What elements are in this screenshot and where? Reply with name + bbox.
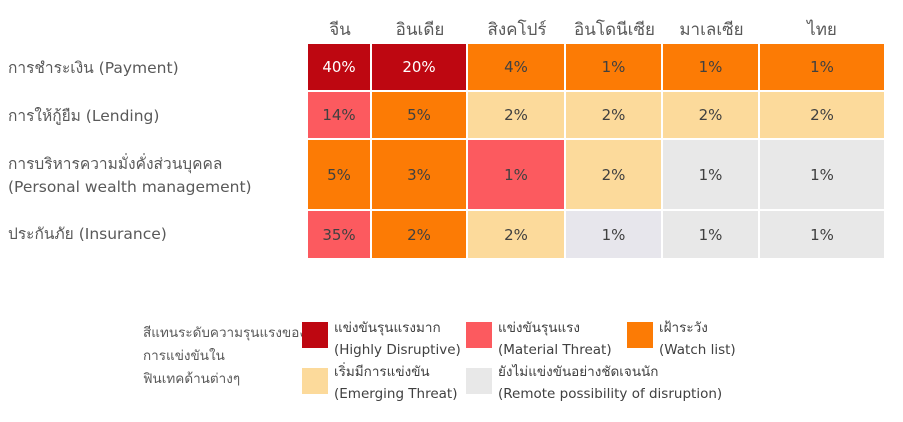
column-header-5: มาเลเซีย: [663, 0, 760, 44]
legend-caption-line: ฟินเทคด้านต่างๆ: [143, 368, 308, 391]
heatmap-cell: 1%: [760, 140, 884, 211]
heatmap-cell: 2%: [468, 211, 566, 258]
heatmap-cell: 14%: [308, 92, 372, 140]
heatmap-cell: 1%: [566, 211, 663, 258]
fintech-disruption-heatmap: จีนอินเดียสิงคโปร์อินโดนีเซียมาเลเซียไทย…: [0, 0, 903, 262]
legend-swatch-1: [302, 322, 328, 348]
heatmap-cell: 2%: [566, 92, 663, 140]
legend-swatch-4: [466, 368, 492, 394]
column-header-row: จีนอินเดียสิงคโปร์อินโดนีเซียมาเลเซียไทย: [308, 0, 884, 44]
row-label-3: การบริหารความมั่งคั่งส่วนบุคคล(Personal …: [8, 140, 303, 211]
heatmap-cell: 3%: [372, 140, 468, 211]
legend-caption-line: สีแทนระดับความรุนแรงของ: [143, 322, 308, 345]
legend-label-en: (Highly Disruptive): [334, 340, 461, 362]
row-label-1: การชำระเงิน (Payment): [8, 44, 303, 92]
legend-caption-line: การแข่งขันใน: [143, 345, 308, 368]
heatmap-cell: 2%: [663, 92, 760, 140]
legend-swatch-5: [627, 322, 653, 348]
heatmap-cell: 2%: [372, 211, 468, 258]
legend-label-4: ยังไม่แข่งขันอย่างชัดเจนนัก(Remote possi…: [498, 362, 722, 406]
legend-label-en: (Watch list): [659, 340, 736, 362]
heatmap-cell: 35%: [308, 211, 372, 258]
heatmap-row: 35%2%2%1%1%1%: [308, 211, 884, 258]
legend-label-5: เฝ้าระวัง(Watch list): [659, 318, 736, 362]
heatmap-grid: 40%20%4%1%1%1%14%5%2%2%2%2%5%3%1%2%1%1%3…: [308, 44, 884, 258]
heatmap-cell: 1%: [663, 211, 760, 258]
heatmap-cell: 1%: [663, 140, 760, 211]
column-header-4: อินโดนีเซีย: [566, 0, 663, 44]
row-label-line: (Personal wealth management): [8, 176, 252, 198]
legend-label-3: แข่งขันรุนแรง(Material Threat): [498, 318, 612, 362]
row-label-column: การชำระเงิน (Payment)การให้กู้ยืม (Lendi…: [8, 44, 303, 258]
heatmap-cell: 1%: [566, 44, 663, 92]
legend-label-th: ยังไม่แข่งขันอย่างชัดเจนนัก: [498, 362, 722, 384]
column-header-2: อินเดีย: [372, 0, 468, 44]
row-label-line: ประกันภัย (Insurance): [8, 223, 167, 245]
row-label-2: การให้กู้ยืม (Lending): [8, 92, 303, 140]
heatmap-row: 5%3%1%2%1%1%: [308, 140, 884, 211]
legend-label-en: (Emerging Threat): [334, 384, 458, 406]
heatmap-cell: 2%: [566, 140, 663, 211]
heatmap-cell: 2%: [468, 92, 566, 140]
heatmap-cell: 5%: [372, 92, 468, 140]
heatmap-cell: 2%: [760, 92, 884, 140]
legend-label-1: แข่งขันรุนแรงมาก(Highly Disruptive): [334, 318, 461, 362]
legend: สีแทนระดับความรุนแรงของการแข่งขันในฟินเท…: [0, 300, 903, 422]
row-label-line: การให้กู้ยืม (Lending): [8, 105, 159, 127]
column-header-1: จีน: [308, 0, 372, 44]
column-header-6: ไทย: [760, 0, 884, 44]
column-header-3: สิงคโปร์: [468, 0, 566, 44]
row-label-line: การบริหารความมั่งคั่งส่วนบุคคล: [8, 153, 252, 175]
row-label-line: การชำระเงิน (Payment): [8, 57, 179, 79]
heatmap-cell: 4%: [468, 44, 566, 92]
legend-label-th: เริ่มมีการแข่งขัน: [334, 362, 458, 384]
heatmap-cell: 1%: [760, 211, 884, 258]
heatmap-cell: 40%: [308, 44, 372, 92]
legend-label-2: เริ่มมีการแข่งขัน(Emerging Threat): [334, 362, 458, 406]
heatmap-row: 40%20%4%1%1%1%: [308, 44, 884, 92]
legend-swatch-2: [302, 368, 328, 394]
legend-label-en: (Material Threat): [498, 340, 612, 362]
heatmap-cell: 1%: [760, 44, 884, 92]
heatmap-cell: 5%: [308, 140, 372, 211]
row-label-4: ประกันภัย (Insurance): [8, 211, 303, 258]
legend-label-th: แข่งขันรุนแรง: [498, 318, 612, 340]
legend-caption: สีแทนระดับความรุนแรงของการแข่งขันในฟินเท…: [143, 322, 308, 392]
legend-label-en: (Remote possibility of disruption): [498, 384, 722, 406]
heatmap-row: 14%5%2%2%2%2%: [308, 92, 884, 140]
heatmap-cell: 20%: [372, 44, 468, 92]
heatmap-cell: 1%: [468, 140, 566, 211]
legend-swatch-3: [466, 322, 492, 348]
legend-label-th: แข่งขันรุนแรงมาก: [334, 318, 461, 340]
legend-label-th: เฝ้าระวัง: [659, 318, 736, 340]
heatmap-cell: 1%: [663, 44, 760, 92]
